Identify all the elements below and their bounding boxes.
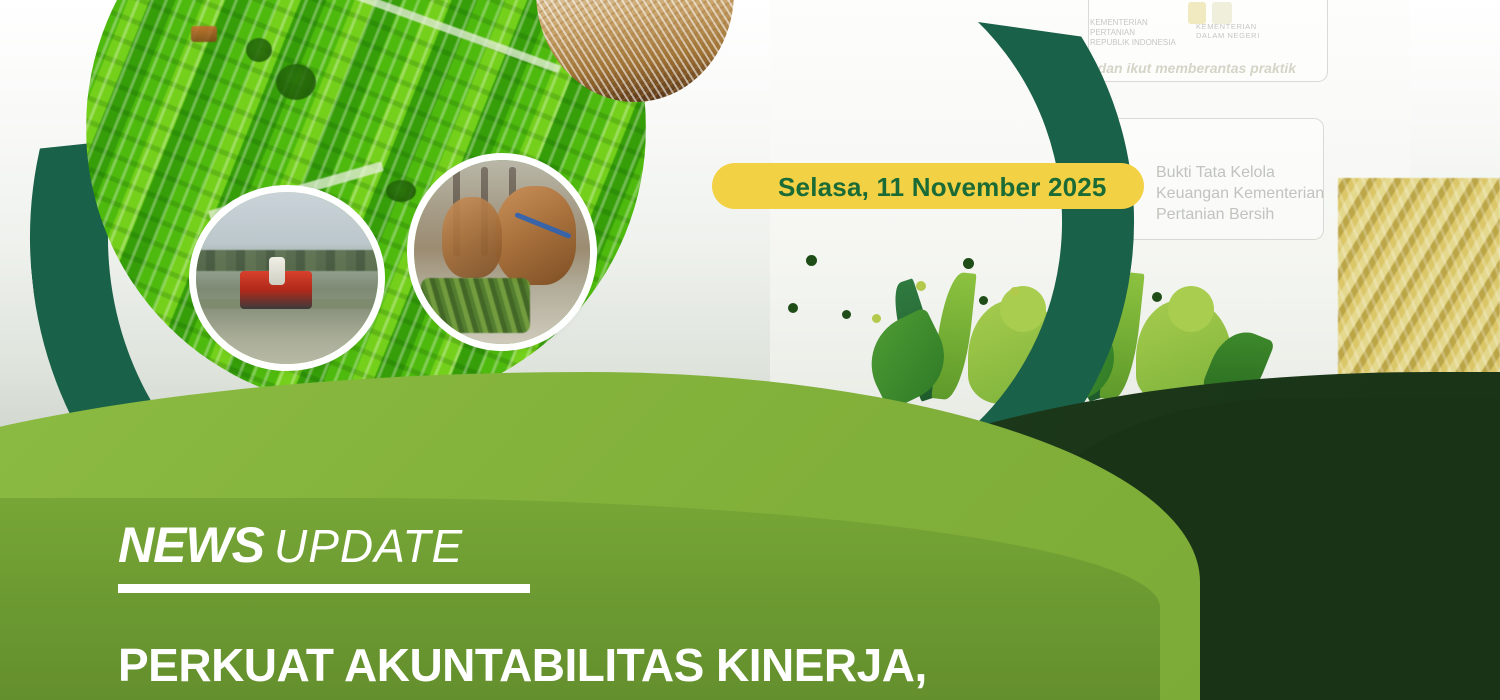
- news-update-block: NEWS UPDATE: [118, 520, 530, 593]
- ghost-ministry-name: KEMENTERIAN DALAM NEGERI: [1196, 22, 1260, 40]
- milled-rice-photo: [536, 0, 734, 102]
- decorative-dot: [1152, 292, 1162, 302]
- cow-head-secondary: [442, 197, 502, 278]
- farmer-figure: [269, 257, 285, 285]
- rice-transplanter-photo: [196, 192, 378, 364]
- cattle-image: [414, 160, 590, 344]
- treeline: [196, 250, 378, 271]
- rice-transplanter-image: [196, 192, 378, 364]
- ghost-left-logo-text: KEMENTERIAN PERTANIAN REPUBLIK INDONESIA: [1090, 18, 1176, 48]
- date-badge-text: Selasa, 11 November 2025: [778, 168, 1198, 206]
- news-underline-rule: [118, 584, 530, 593]
- green-fodder: [421, 278, 530, 333]
- news-graphic-canvas: KEMENTERIAN PERTANIAN REPUBLIK INDONESIA…: [0, 0, 1500, 700]
- ghost-line-1: ...dan ikut memberantas praktik: [1086, 60, 1296, 76]
- ghost-ministry-crest-right: [1212, 2, 1232, 24]
- cattle-photo: [414, 160, 590, 344]
- news-update-line: NEWS UPDATE: [118, 520, 530, 570]
- ghost-ministry-crest-left: [1188, 2, 1206, 24]
- update-word: UPDATE: [274, 523, 463, 569]
- headline-text: PERKUAT AKUNTABILITAS KINERJA,: [118, 640, 1378, 692]
- news-word: NEWS: [118, 520, 264, 570]
- milled-rice-image: [536, 0, 734, 102]
- leaf-oak-icon: [1168, 286, 1214, 332]
